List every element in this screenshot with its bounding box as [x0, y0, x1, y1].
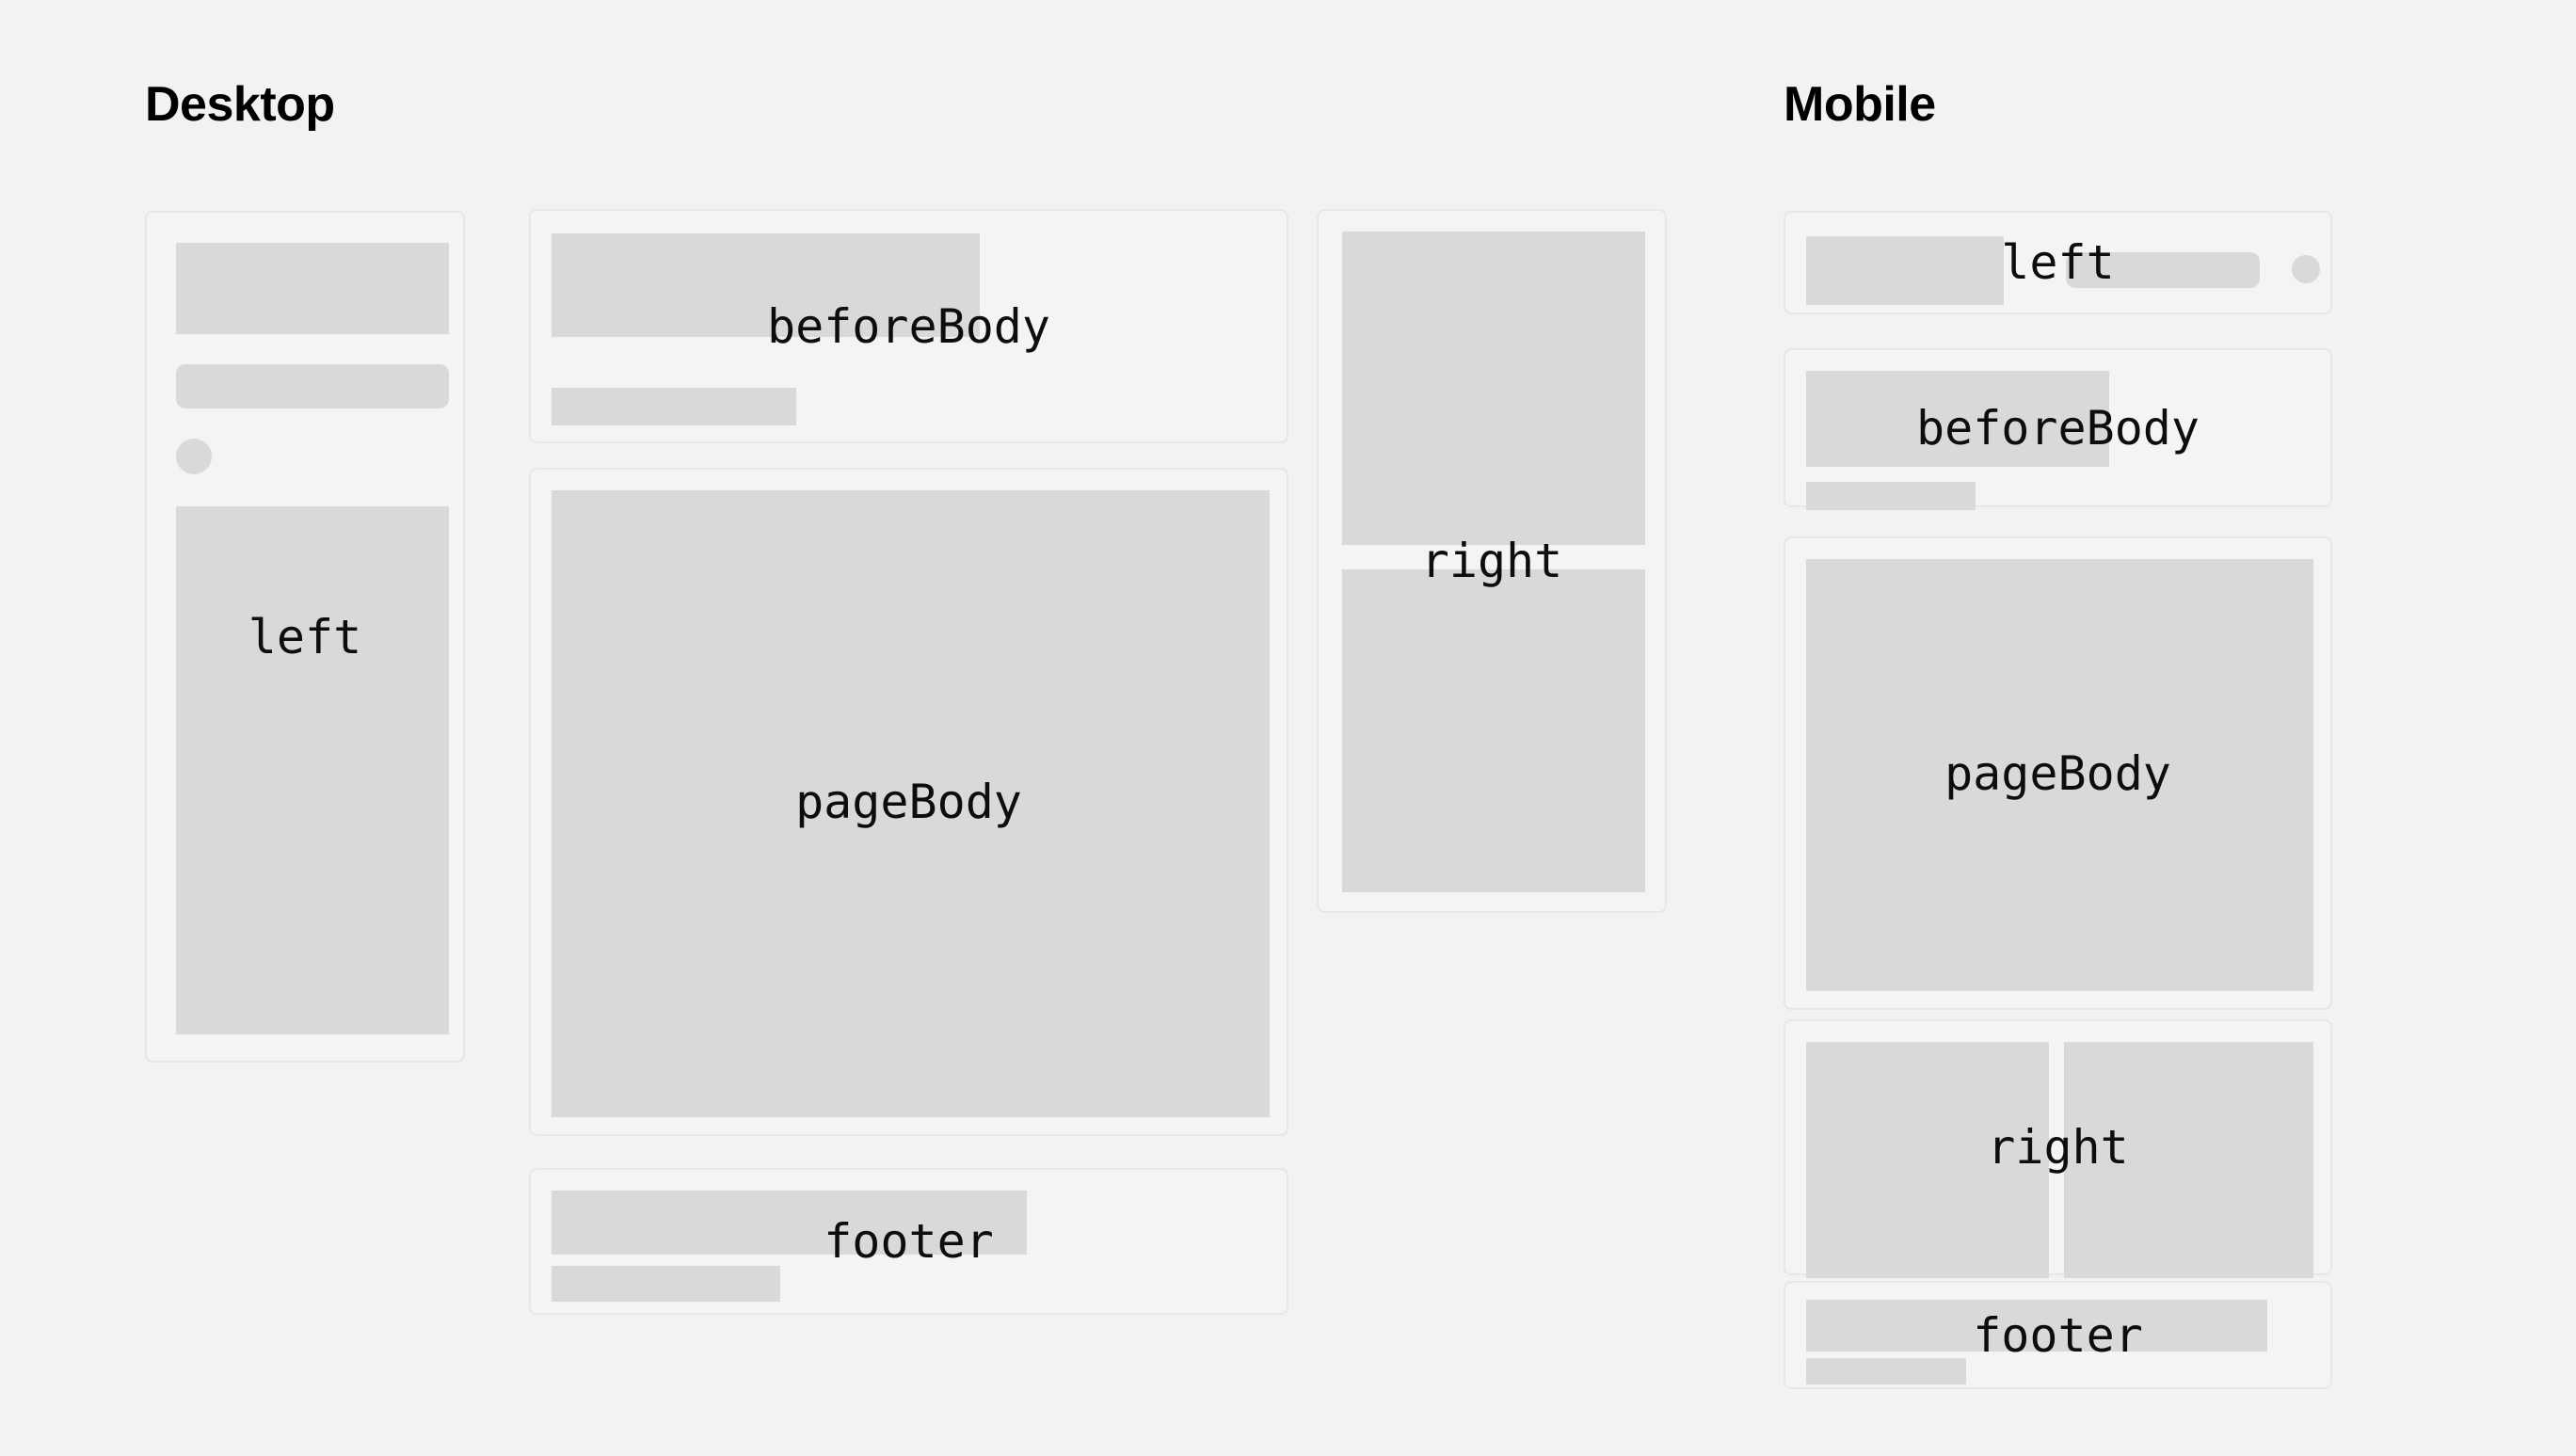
mobile-left-slot-panel[interactable]: [1784, 211, 2332, 314]
placeholder-block: [1342, 569, 1645, 892]
mobile-section-title: Mobile: [1784, 80, 1936, 129]
placeholder-block: [1806, 1300, 2267, 1352]
placeholder-block: [552, 1191, 1027, 1255]
desktop-page-body-slot-panel[interactable]: [529, 468, 1288, 1136]
placeholder-bar: [176, 364, 449, 408]
placeholder-block: [1806, 559, 2313, 991]
placeholder-bar: [1806, 1358, 1966, 1384]
placeholder-bar: [1806, 482, 1976, 510]
placeholder-block: [2064, 1042, 2313, 1278]
placeholder-bar: [552, 388, 796, 425]
placeholder-circle-icon: [2292, 255, 2320, 283]
placeholder-block: [552, 490, 1270, 1117]
desktop-section-title: Desktop: [145, 80, 335, 129]
placeholder-block: [552, 233, 980, 337]
mobile-page-body-slot-panel[interactable]: [1784, 536, 2332, 1010]
desktop-left-slot-panel[interactable]: [145, 211, 465, 1063]
placeholder-block: [176, 243, 449, 334]
placeholder-block: [176, 506, 449, 1034]
placeholder-circle-icon: [176, 439, 212, 474]
placeholder-bar: [2066, 252, 2260, 288]
mobile-right-slot-panel[interactable]: [1784, 1019, 2332, 1275]
placeholder-block: [1806, 236, 2004, 305]
wireframe-preview-canvas: Desktop left beforeBody pageBody footer …: [0, 0, 2576, 1456]
placeholder-block: [1806, 1042, 2049, 1278]
desktop-right-slot-panel[interactable]: [1317, 209, 1667, 913]
mobile-before-body-slot-panel[interactable]: [1784, 348, 2332, 507]
placeholder-block: [1806, 371, 2109, 467]
desktop-footer-slot-panel[interactable]: [529, 1168, 1288, 1315]
placeholder-block: [1342, 232, 1645, 545]
desktop-before-body-slot-panel[interactable]: [529, 209, 1288, 443]
placeholder-bar: [552, 1266, 780, 1302]
mobile-footer-slot-panel[interactable]: [1784, 1281, 2332, 1389]
